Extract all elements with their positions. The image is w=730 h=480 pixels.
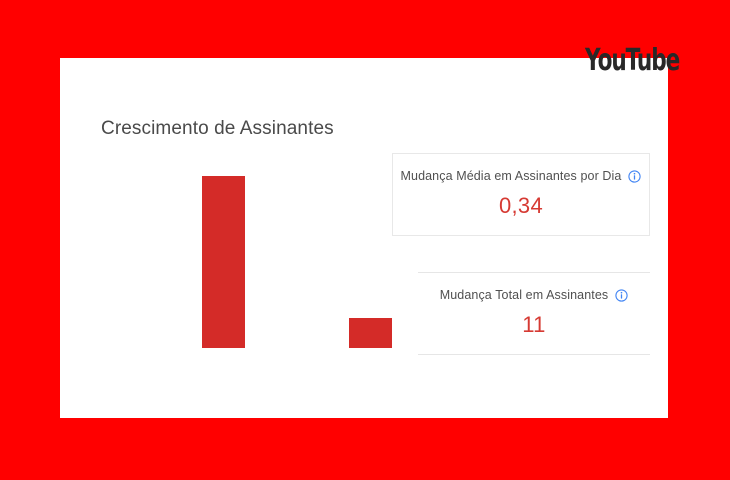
metric-value: 11 — [418, 312, 650, 338]
metric-label: Mudança Média em Assinantes por Dia — [401, 168, 622, 184]
chart-bar[interactable] — [349, 318, 392, 348]
metric-card-average-change: Mudança Média em Assinantes por Dia 0,34 — [392, 153, 650, 236]
chart-plot-area — [100, 168, 390, 348]
metric-header: Mudança Média em Assinantes por Dia — [393, 168, 649, 184]
metric-header: Mudança Total em Assinantes — [418, 287, 650, 303]
subscriber-growth-bar-chart — [100, 160, 390, 355]
info-circle-icon[interactable] — [615, 289, 628, 302]
info-circle-icon[interactable] — [628, 170, 641, 183]
chart-bar[interactable] — [202, 176, 245, 348]
youtube-logo: YouTube — [585, 46, 657, 78]
metric-value: 0,34 — [393, 193, 649, 219]
page-title: Crescimento de Assinantes — [101, 117, 334, 141]
metric-card-total-change: Mudança Total em Assinantes 11 — [418, 272, 650, 355]
metric-label: Mudança Total em Assinantes — [440, 287, 609, 303]
metrics-panel: Mudança Média em Assinantes por Dia 0,34… — [392, 153, 650, 355]
